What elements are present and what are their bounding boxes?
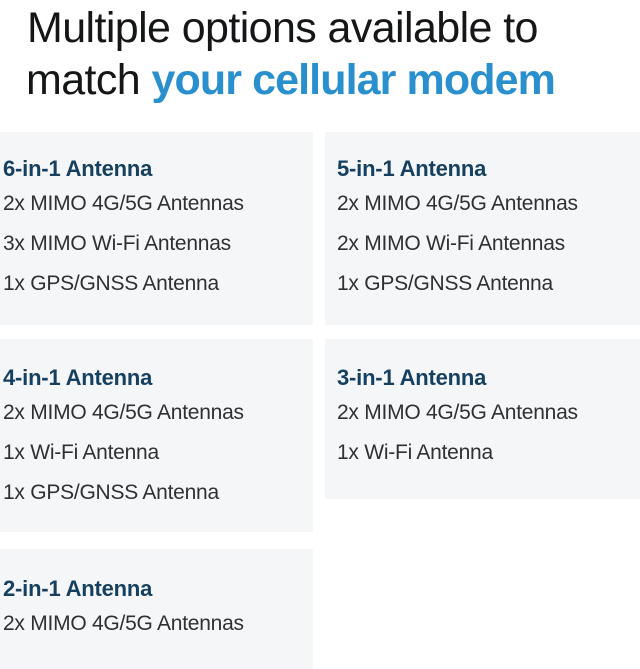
- antenna-card-spec-line: 2x MIMO 4G/5G Antennas: [325, 393, 640, 433]
- antenna-row-1: 6-in-1 Antenna 2x MIMO 4G/5G Antennas 3x…: [0, 132, 640, 339]
- antenna-row-2: 4-in-1 Antenna 2x MIMO 4G/5G Antennas 1x…: [0, 339, 640, 549]
- antenna-card-title: 2-in-1 Antenna: [0, 574, 313, 604]
- antenna-card-spec-line: 2x MIMO Wi-Fi Antennas: [325, 224, 640, 264]
- antenna-card-content: 3-in-1 Antenna 2x MIMO 4G/5G Antennas 1x…: [325, 363, 640, 473]
- antenna-card-spec-line: 1x GPS/GNSS Antenna: [0, 264, 313, 304]
- antenna-card-6-in-1[interactable]: 6-in-1 Antenna 2x MIMO 4G/5G Antennas 3x…: [0, 132, 313, 325]
- antenna-card-spec-line: 2x MIMO 4G/5G Antennas: [0, 604, 313, 644]
- headline-line-1: Multiple options available to: [0, 0, 640, 54]
- antenna-card-spec-line: 2x MIMO 4G/5G Antennas: [0, 393, 313, 433]
- antenna-card-spec-line: 2x MIMO 4G/5G Antennas: [0, 184, 313, 224]
- page-headline: Multiple options available to match your…: [0, 0, 640, 106]
- antenna-card-content: 5-in-1 Antenna 2x MIMO 4G/5G Antennas 2x…: [325, 154, 640, 304]
- antenna-card-3-in-1[interactable]: 3-in-1 Antenna 2x MIMO 4G/5G Antennas 1x…: [325, 339, 640, 499]
- antenna-card-5-in-1[interactable]: 5-in-1 Antenna 2x MIMO 4G/5G Antennas 2x…: [325, 132, 640, 325]
- antenna-card-title: 4-in-1 Antenna: [0, 363, 313, 393]
- headline-emphasis: your cellular modem: [151, 56, 554, 104]
- antenna-card-content: 2-in-1 Antenna 2x MIMO 4G/5G Antennas: [0, 574, 313, 644]
- antenna-option-grid: 6-in-1 Antenna 2x MIMO 4G/5G Antennas 3x…: [0, 132, 640, 669]
- antenna-card-4-in-1[interactable]: 4-in-1 Antenna 2x MIMO 4G/5G Antennas 1x…: [0, 339, 313, 532]
- antenna-card-content: 4-in-1 Antenna 2x MIMO 4G/5G Antennas 1x…: [0, 363, 313, 513]
- antenna-card-title: 3-in-1 Antenna: [325, 363, 640, 393]
- antenna-card-2-in-1[interactable]: 2-in-1 Antenna 2x MIMO 4G/5G Antennas: [0, 549, 313, 669]
- antenna-options-page: Multiple options available to match your…: [0, 0, 640, 640]
- antenna-card-spec-line: 1x Wi-Fi Antenna: [0, 433, 313, 473]
- headline-line-2: match your cellular modem: [0, 54, 640, 106]
- antenna-card-title: 6-in-1 Antenna: [0, 154, 313, 184]
- antenna-card-spec-line: 1x Wi-Fi Antenna: [325, 433, 640, 473]
- antenna-card-spec-line: 3x MIMO Wi-Fi Antennas: [0, 224, 313, 264]
- antenna-card-spec-line: 1x GPS/GNSS Antenna: [325, 264, 640, 304]
- headline-prefix: match: [26, 56, 151, 104]
- antenna-card-spec-line: 2x MIMO 4G/5G Antennas: [325, 184, 640, 224]
- antenna-card-title: 5-in-1 Antenna: [325, 154, 640, 184]
- antenna-row-3: 2-in-1 Antenna 2x MIMO 4G/5G Antennas: [0, 549, 640, 669]
- antenna-card-content: 6-in-1 Antenna 2x MIMO 4G/5G Antennas 3x…: [0, 154, 313, 304]
- antenna-card-spec-line: 1x GPS/GNSS Antenna: [0, 473, 313, 513]
